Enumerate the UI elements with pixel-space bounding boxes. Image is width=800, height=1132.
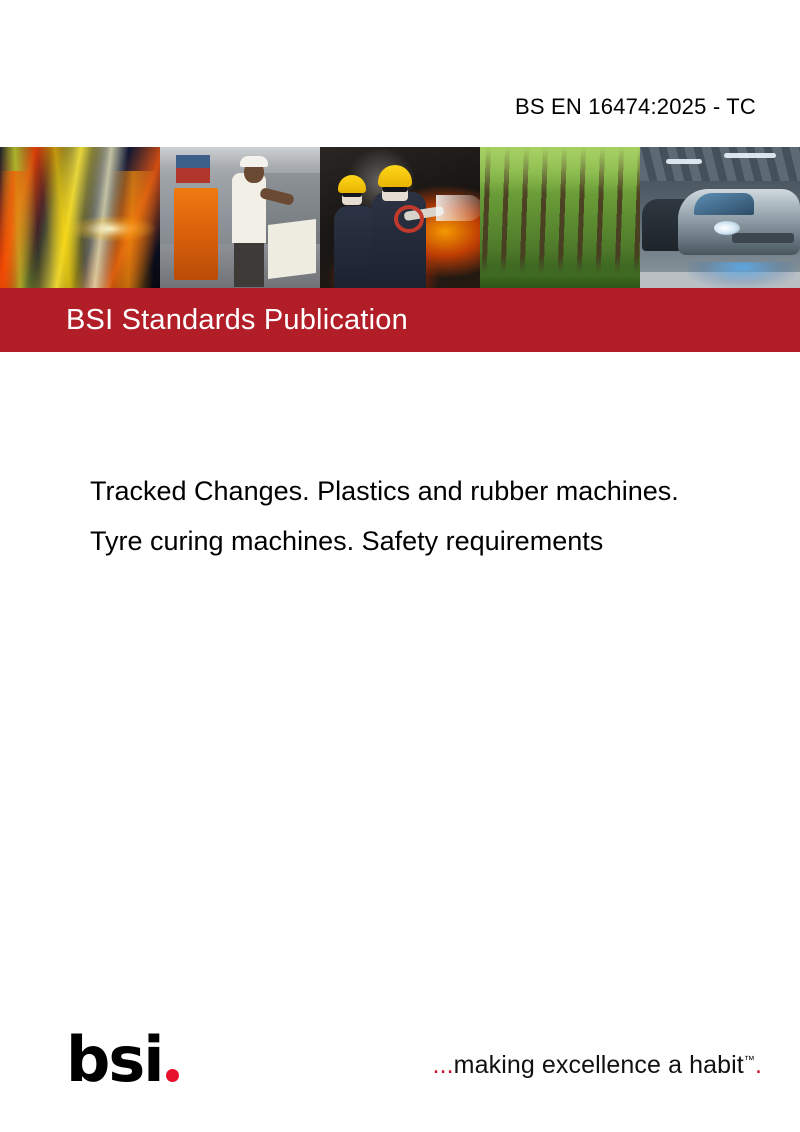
water-spray xyxy=(436,195,480,221)
forest-underbrush xyxy=(480,254,640,288)
tagline-period: . xyxy=(755,1051,762,1079)
banner-image-car-assembly-line xyxy=(640,147,800,288)
warehouse-blue-crate xyxy=(176,155,210,168)
tagline-ellipsis: ... xyxy=(433,1051,454,1079)
factory-lamp xyxy=(666,159,702,164)
bsi-logo-wordmark: bsi xyxy=(66,1032,163,1088)
car-windshield xyxy=(694,193,754,215)
bsi-logo: bsi xyxy=(66,1026,179,1088)
publication-banner-bar: BSI Standards Publication xyxy=(0,288,800,352)
tagline-text: making excellence a habit xyxy=(454,1051,744,1079)
warehouse-orange-crate xyxy=(174,188,218,280)
car-grille xyxy=(732,233,794,243)
page-title-line-2: Tyre curing machines. Safety requirement… xyxy=(90,516,800,566)
factory-lamp xyxy=(724,153,776,158)
bsi-tagline: ...making excellence a habit™. xyxy=(433,1051,762,1080)
banner-image-firefighters xyxy=(320,147,480,288)
firefighter-front xyxy=(372,192,426,288)
banner-image-warehouse-worker xyxy=(160,147,320,288)
page-title-line-1: Tracked Changes. Plastics and rubber mac… xyxy=(90,466,800,516)
banner-image-pine-forest xyxy=(480,147,640,288)
worker-cap xyxy=(240,156,268,167)
fire-hose-nozzle xyxy=(394,205,424,233)
warehouse-white-box xyxy=(268,219,316,279)
factory-ceiling xyxy=(640,147,800,181)
car-floor-reflection xyxy=(688,262,796,288)
banner-image-strip xyxy=(0,147,800,288)
warehouse-red-crate xyxy=(176,167,210,183)
forest-canopy xyxy=(480,147,640,193)
publication-banner-label: BSI Standards Publication xyxy=(66,304,408,337)
car-headlight xyxy=(714,221,740,235)
trademark-icon: ™ xyxy=(744,1055,755,1067)
document-reference: BS EN 16474:2025 - TC xyxy=(515,94,756,120)
banner-image-night-traffic-light-trails xyxy=(0,147,160,288)
bsi-logo-dot-icon xyxy=(166,1069,179,1082)
page-title: Tracked Changes. Plastics and rubber mac… xyxy=(90,466,800,566)
worker-torso xyxy=(232,173,266,243)
cover-banner: BSI Standards Publication xyxy=(0,147,800,352)
